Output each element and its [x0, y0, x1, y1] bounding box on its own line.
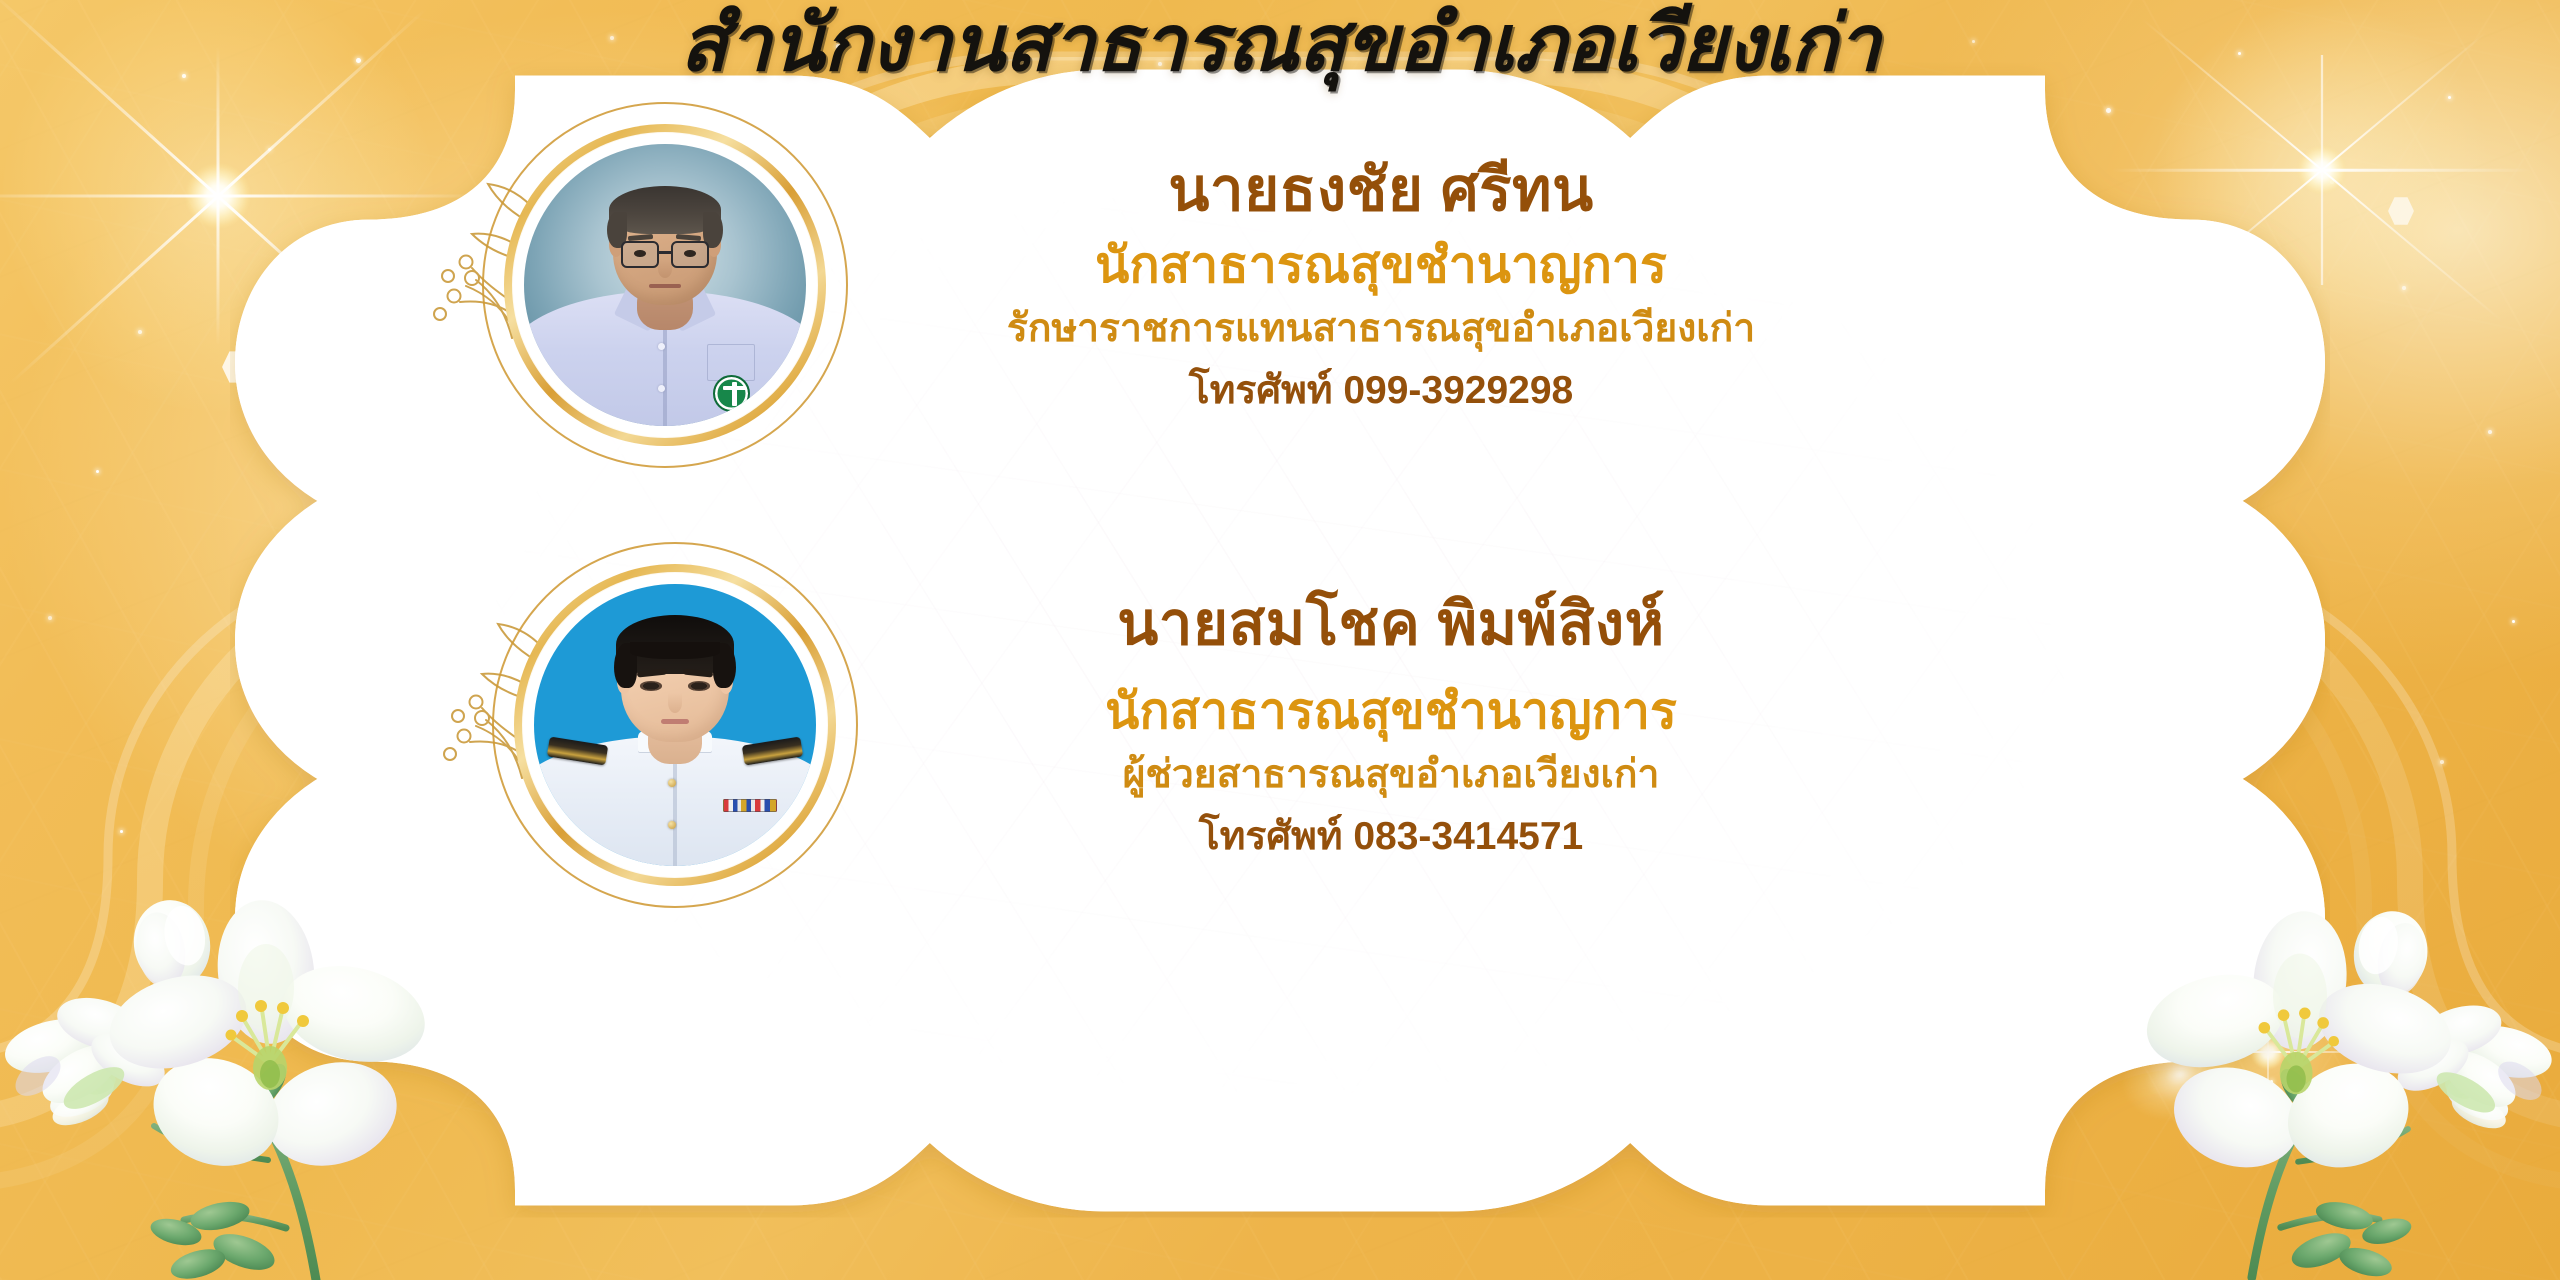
person-phone[interactable]: โทรศัพท์ 083-3414571: [862, 811, 1920, 863]
person-info: นายธงชัย ศรีทน นักสาธารณสุขชำนาญการ รักษ…: [830, 153, 2060, 418]
portrait-photo: [524, 144, 806, 426]
person-department: ผู้ช่วยสาธารณสุขอำเภอเวียงเก่า: [862, 749, 1920, 801]
avatar: [500, 120, 830, 450]
person-info: นายสมโชค พิมพ์สิงห์ นักสาธารณสุขชำนาญการ…: [840, 587, 2070, 864]
person-card: นายสมโชค พิมพ์สิงห์ นักสาธารณสุขชำนาญการ…: [510, 560, 2070, 890]
ribbon-bar-icon: [723, 799, 777, 812]
person-role: นักสาธารณสุขชำนาญการ: [862, 678, 1920, 745]
portrait-photo: [534, 584, 816, 866]
person-phone[interactable]: โทรศัพท์ 099-3929298: [852, 365, 1910, 417]
person-department: รักษาราชการแทนสาธารณสุขอำเภอเวียงเก่า: [852, 303, 1910, 355]
person-name: นายธงชัย ศรีทน: [852, 153, 1910, 226]
person-name: นายสมโชค พิมพ์สิงห์: [862, 587, 1920, 660]
people-list: นายธงชัย ศรีทน นักสาธารณสุขชำนาญการ รักษ…: [0, 0, 2560, 1280]
banner-root: สำนักงานสาธารณสุขอำเภอเวียงเก่า: [0, 0, 2560, 1280]
person-role: นักสาธารณสุขชำนาญการ: [852, 232, 1910, 299]
avatar: [510, 560, 840, 890]
page-title: สำนักงานสาธารณสุขอำเภอเวียงเก่า: [0, 4, 2560, 84]
person-card: นายธงชัย ศรีทน นักสาธารณสุขชำนาญการ รักษ…: [500, 120, 2060, 450]
